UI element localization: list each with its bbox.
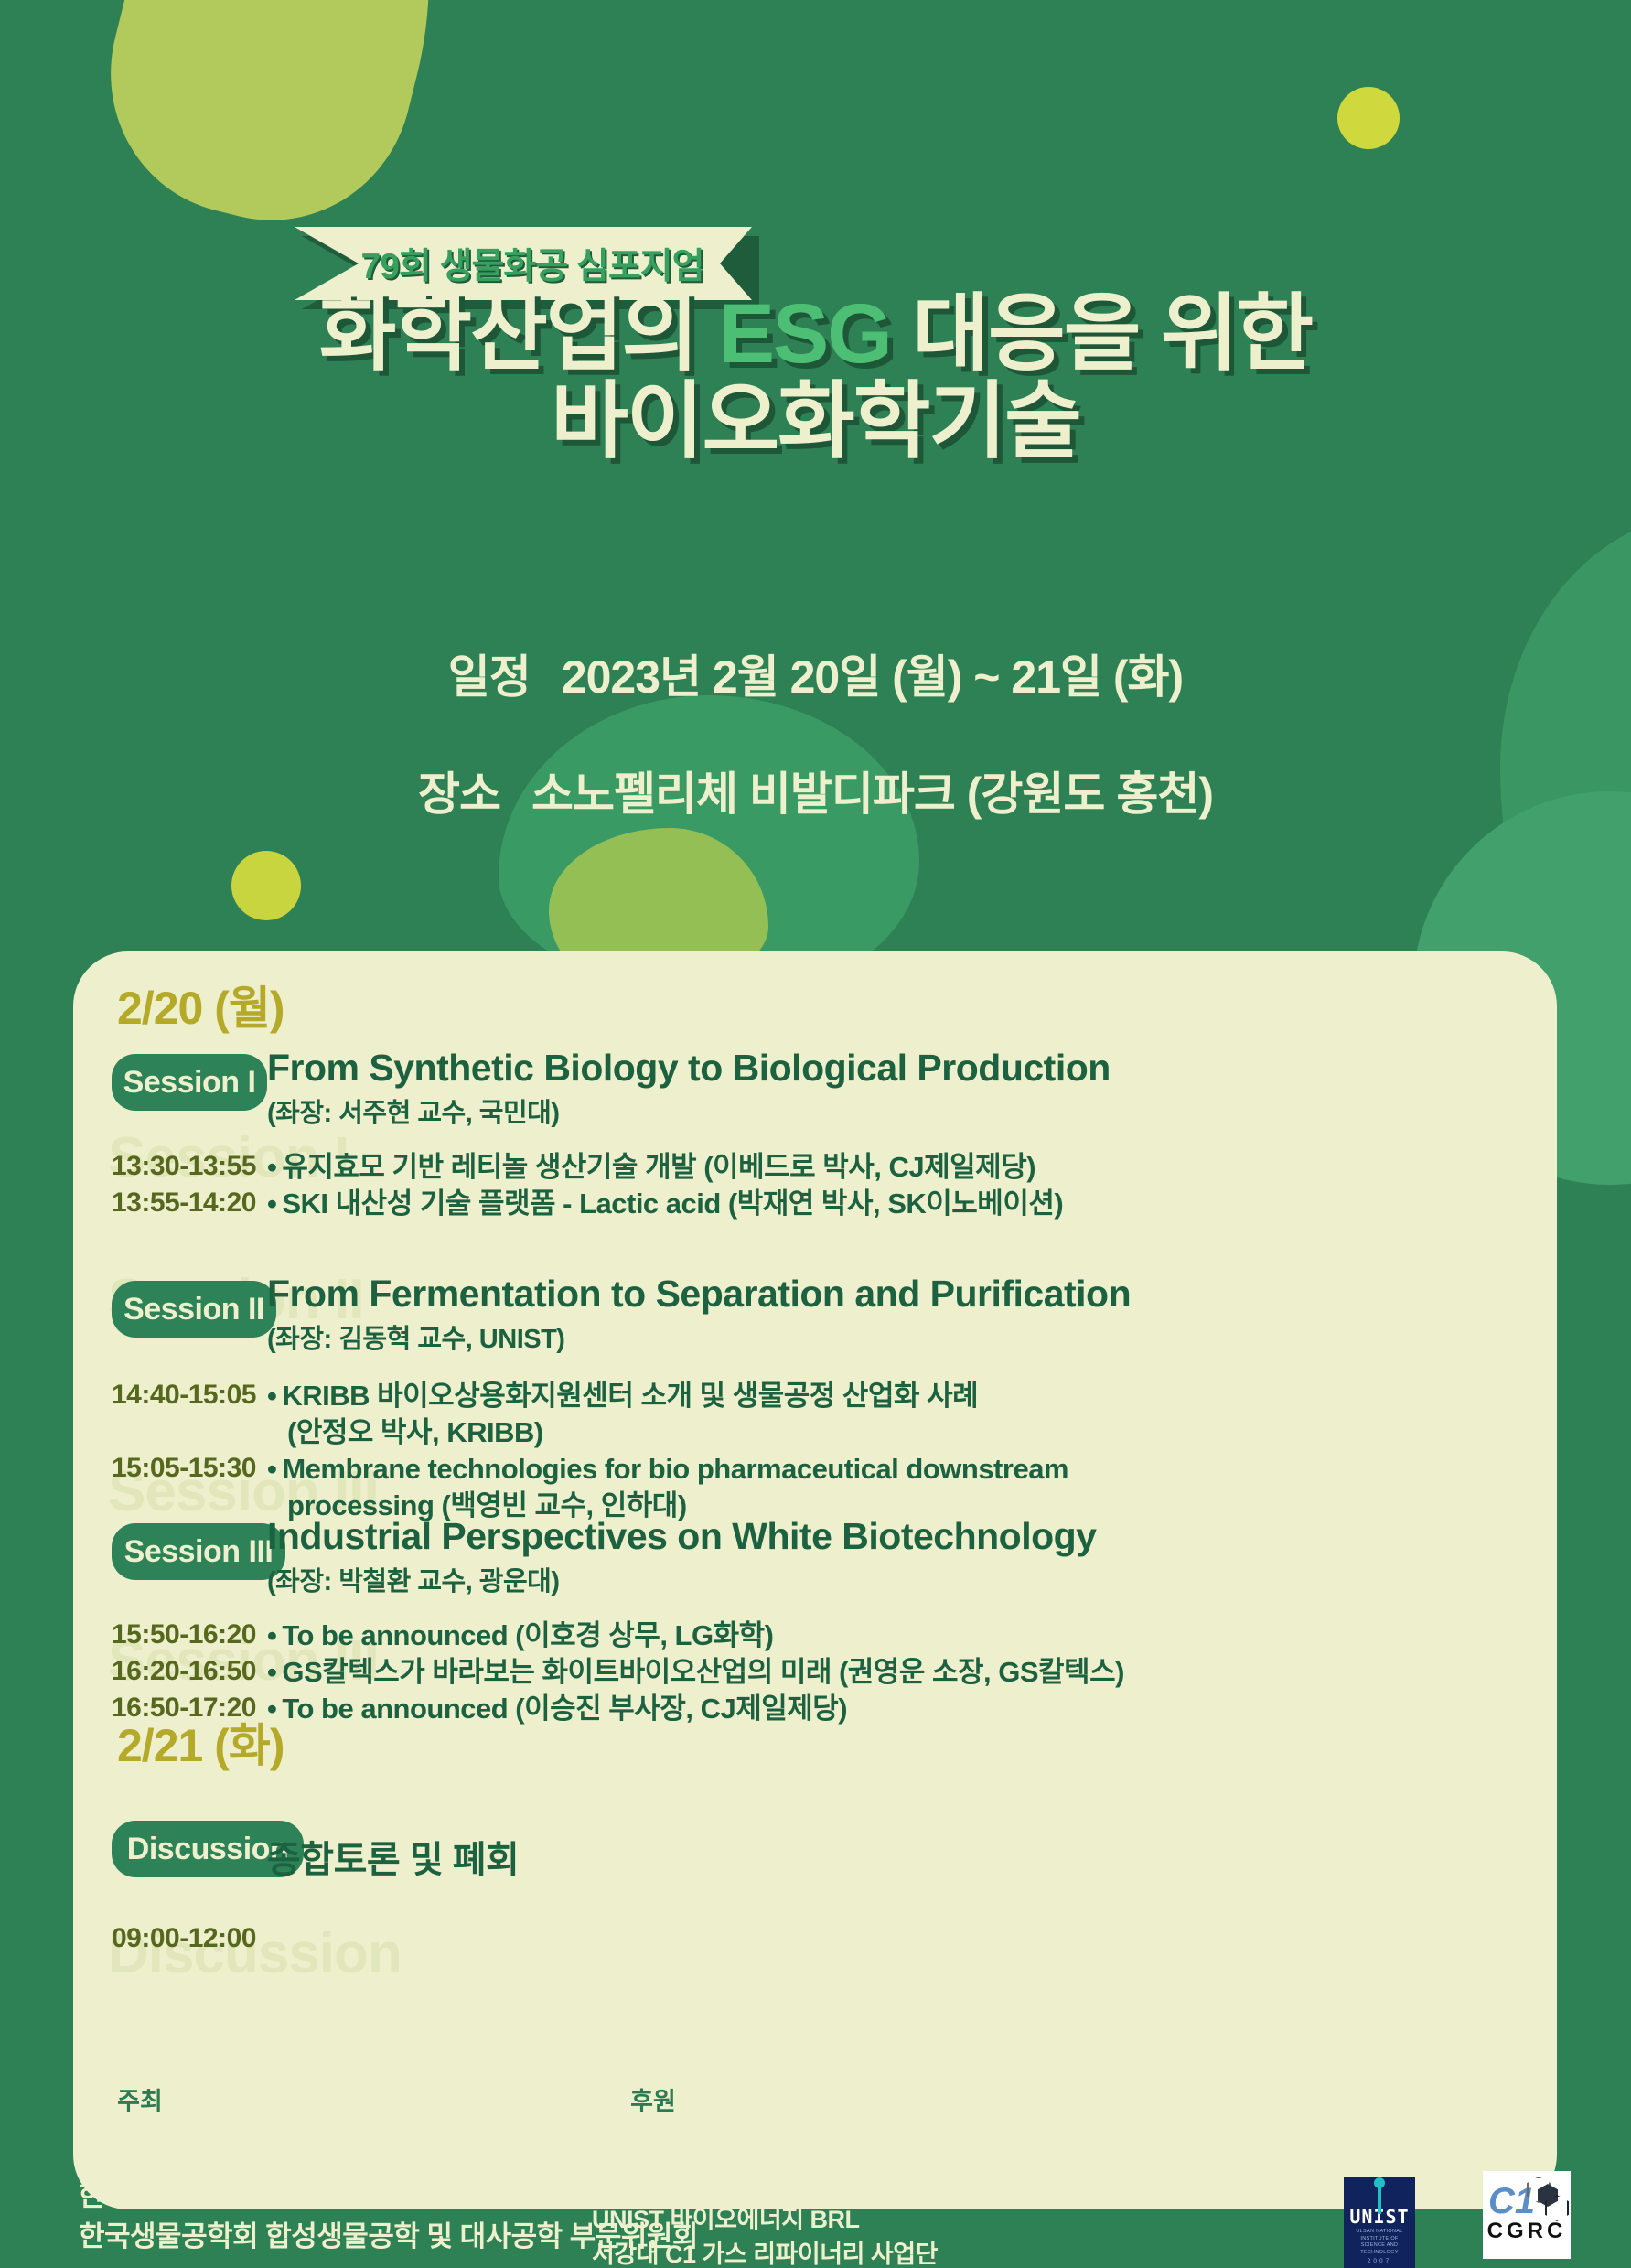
- sponsor-list: UNIST SMILE ERC UNIST 바이오화학 특성화사업단 UNIST…: [592, 2132, 938, 2268]
- talk-item-1-1: •유지효모 기반 레티놀 생산기술 개발 (이베드로 박사, CJ제일제당): [267, 1149, 1511, 1186]
- talk-item-2-1: •KRIBB 바이오상용화지원센터 소개 및 생물공정 산업화 사례(안정오 박…: [267, 1378, 1511, 1450]
- headline-line-1: 화학산업의 ESG 대응을 위한: [0, 291, 1631, 379]
- unist-spark-icon: [1378, 2183, 1381, 2214]
- talk-time-1-2: 13:55-14:20: [112, 1188, 256, 1219]
- host-label-pill: 주최: [91, 2078, 188, 2120]
- session-chair-2: (좌장: 김동혁 교수, UNIST): [267, 1317, 1131, 1356]
- cgrc-hexagon-icon: [1525, 2177, 1567, 2217]
- yellow-dot-left: [231, 851, 301, 920]
- bullet-icon: •: [267, 1656, 276, 1688]
- discussion-time: 09:00-12:00: [112, 1923, 256, 1954]
- session-pill-3: Session III: [112, 1523, 285, 1580]
- bullet-icon: •: [267, 1453, 276, 1485]
- leaf-blob-top-left: [80, 0, 477, 250]
- talk-item-1-2: •SKI 내산성 기술 플랫폼 - Lactic acid (박재연 박사, S…: [267, 1186, 1511, 1222]
- sponsor-item-3: UNIST 바이오에너지 BRL: [592, 2202, 938, 2237]
- yellow-dot-top-right: [1337, 87, 1400, 149]
- venue-label: 장소: [418, 769, 500, 820]
- sponsor-label-pill: 후원: [605, 2078, 702, 2120]
- talk-text-1-1: 유지효모 기반 레티놀 생산기술 개발 (이베드로 박사, CJ제일제당): [282, 1151, 1035, 1183]
- session-chair-1: (좌장: 서주현 교수, 국민대): [267, 1091, 1111, 1130]
- bullet-icon: •: [267, 1151, 276, 1183]
- sponsor-item-4: 서강대 C1 가스 리파이너리 사업단: [592, 2237, 938, 2268]
- bullet-icon: •: [267, 1380, 276, 1412]
- session-chair-3: (좌장: 박철환 교수, 광운대): [267, 1560, 1097, 1598]
- sponsor-item-2: UNIST 바이오화학 특성화사업단: [592, 2166, 938, 2201]
- venue-value: 소노펠리체 비발디파크 (강원도 홍천): [531, 769, 1213, 820]
- session-pill-2: Session II: [112, 1281, 276, 1338]
- headline-line-2: 바이오화학기술: [0, 379, 1631, 467]
- schedule-card: Session I Session II Session III Session…: [73, 951, 1557, 2209]
- talk-text-3-1: To be announced (이호경 상무, LG화학): [282, 1619, 773, 1651]
- talk-text-3-2: GS칼텍스가 바라보는 화이트바이오산업의 미래 (권영운 소장, GS칼텍스): [282, 1656, 1124, 1688]
- talk-text-2-1: KRIBB 바이오상용화지원센터 소개 및 생물공정 산업화 사례: [282, 1380, 978, 1412]
- ribbon-label: 79회 생물화공 심포지엄: [343, 238, 704, 289]
- session-title-3: Industrial Perspectives on White Biotech…: [267, 1516, 1097, 1557]
- talk-time-1-1: 13:30-13:55: [112, 1151, 256, 1182]
- session-title-2: From Fermentation to Separation and Puri…: [267, 1274, 1131, 1315]
- discussion-text: 종합토론 및 폐회: [267, 1830, 519, 1883]
- session-title-1: From Synthetic Biology to Biological Pro…: [267, 1048, 1111, 1089]
- c1-cgrc-logo: C1 CGRC: [1483, 2171, 1571, 2259]
- talk-text-2-1-cont: (안정오 박사, KRIBB): [267, 1414, 1511, 1451]
- date-label: 일정: [448, 651, 531, 703]
- talk-item-2-2: •Membrane technologies for bio pharmaceu…: [267, 1451, 1511, 1523]
- event-venue-row: 장소소노펠리체 비발디파크 (강원도 홍천): [0, 758, 1631, 823]
- symposium-poster: 79회 생물화공 심포지엄 화학산업의 ESG 대응을 위한 바이오화학기술 일…: [0, 0, 1631, 2268]
- headline-part-a: 화학산업의: [319, 287, 719, 381]
- talk-item-3-3: •To be announced (이승진 부사장, CJ제일제당): [267, 1691, 1511, 1727]
- talk-text-1-2: SKI 내산성 기술 플랫폼 - Lactic acid (박재연 박사, SK…: [282, 1188, 1063, 1220]
- talk-time-3-2: 16:20-16:50: [112, 1656, 256, 1687]
- talk-time-2-2: 15:05-15:30: [112, 1453, 256, 1484]
- session-title-block-3: Industrial Perspectives on White Biotech…: [267, 1516, 1097, 1598]
- talk-text-3-3: To be announced (이승진 부사장, CJ제일제당): [282, 1693, 847, 1725]
- session-title-block-2: From Fermentation to Separation and Puri…: [267, 1274, 1131, 1356]
- session-pill-1: Session I: [112, 1054, 267, 1111]
- unist-logo: UNIST ULSAN NATIONAL INSTITUTE OF SCIENC…: [1344, 2177, 1415, 2268]
- poster-headline: 화학산업의 ESG 대응을 위한 바이오화학기술: [0, 291, 1631, 466]
- headline-part-b: 대응을 위한: [891, 287, 1312, 381]
- talk-text-2-2: Membrane technologies for bio pharmaceut…: [282, 1453, 1068, 1485]
- sponsor-item-1: UNIST SMILE ERC: [592, 2132, 938, 2166]
- unist-year: 2007: [1368, 2258, 1391, 2264]
- talk-time-3-1: 15:50-16:20: [112, 1619, 256, 1650]
- date-value: 2023년 2월 20일 (월) ~ 21일 (화): [562, 651, 1183, 703]
- talk-item-3-2: •GS칼텍스가 바라보는 화이트바이오산업의 미래 (권영운 소장, GS칼텍스…: [267, 1654, 1511, 1691]
- unist-subtitle-line-1: ULSAN NATIONAL INSTITUTE OF: [1344, 2229, 1415, 2242]
- bullet-icon: •: [267, 1619, 276, 1651]
- session-title-block-1: From Synthetic Biology to Biological Pro…: [267, 1048, 1111, 1130]
- cgrc-letters: CGRC: [1487, 2219, 1567, 2244]
- talk-time-2-1: 14:40-15:05: [112, 1380, 256, 1411]
- day-label-feb-20: 2/20 (월): [117, 972, 284, 1037]
- unist-subtitle-line-2: SCIENCE AND TECHNOLOGY: [1344, 2242, 1415, 2256]
- event-date-row: 일정2023년 2월 20일 (월) ~ 21일 (화): [0, 640, 1631, 706]
- talk-item-3-1: •To be announced (이호경 상무, LG화학): [267, 1618, 1511, 1654]
- headline-accent-esg: ESG: [719, 287, 891, 381]
- bullet-icon: •: [267, 1188, 276, 1220]
- day-label-feb-21: 2/21 (화): [117, 1709, 284, 1775]
